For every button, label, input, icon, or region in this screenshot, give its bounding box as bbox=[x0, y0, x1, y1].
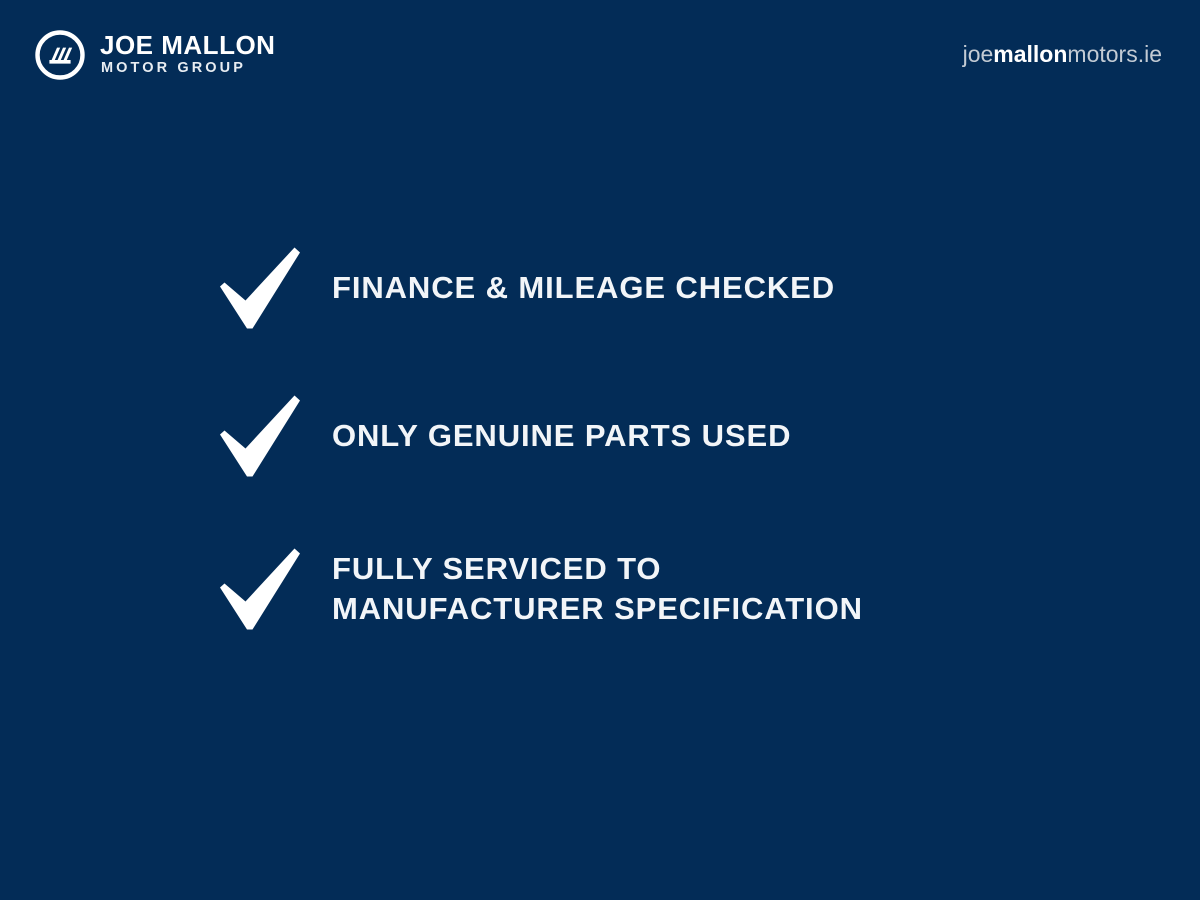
joe-mallon-circular-monogram-icon bbox=[34, 29, 86, 81]
brand-wordmark: JOE MALLON MOTOR GROUP bbox=[100, 31, 275, 78]
feature-list: FINANCE & MILEAGE CHECKED ONLY GENUINE P… bbox=[214, 240, 1114, 642]
url-emphasis: mallon bbox=[993, 41, 1067, 67]
list-item: ONLY GENUINE PARTS USED bbox=[214, 388, 1114, 484]
checkmark-icon bbox=[214, 390, 306, 482]
list-item: FINANCE & MILEAGE CHECKED bbox=[214, 240, 1114, 336]
brand-subtitle: MOTOR GROUP bbox=[100, 59, 275, 79]
checkmark-icon bbox=[214, 242, 306, 334]
checkmark-icon bbox=[214, 543, 306, 635]
brand-logo[interactable]: JOE MALLON MOTOR GROUP bbox=[34, 29, 275, 81]
page-header: JOE MALLON MOTOR GROUP joemallonmotors.i… bbox=[0, 0, 1200, 110]
website-url[interactable]: joemallonmotors.ie bbox=[963, 43, 1162, 68]
feature-label: ONLY GENUINE PARTS USED bbox=[332, 416, 791, 456]
list-item: FULLY SERVICED TO MANUFACTURER SPECIFICA… bbox=[214, 536, 1114, 642]
feature-label: FULLY SERVICED TO MANUFACTURER SPECIFICA… bbox=[332, 549, 863, 628]
feature-label: FINANCE & MILEAGE CHECKED bbox=[332, 268, 835, 308]
brand-name: JOE MALLON bbox=[100, 32, 275, 59]
url-prefix: joe bbox=[963, 41, 994, 67]
url-suffix: motors.ie bbox=[1067, 41, 1162, 67]
